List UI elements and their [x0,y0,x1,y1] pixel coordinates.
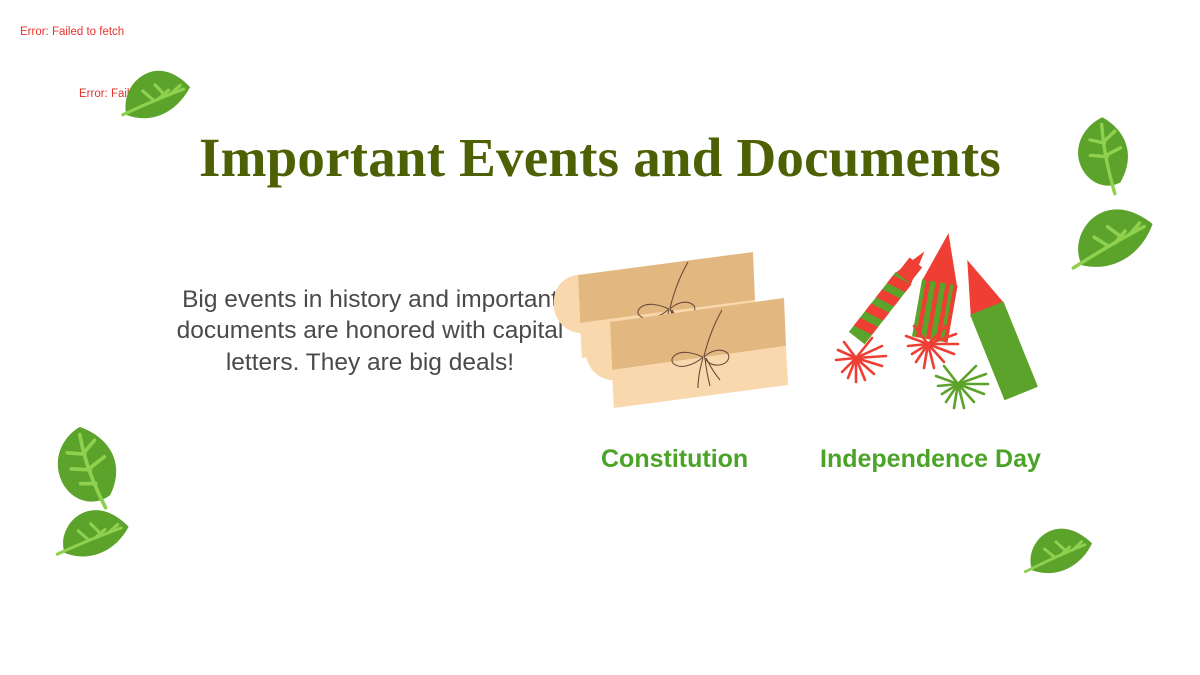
leaf-bottom-right [1010,518,1106,590]
leaf-top-right-upper [1062,112,1150,198]
scroll-icon [548,240,808,430]
leaf-top-right-lower [1060,196,1160,286]
spark-burst-left [836,338,886,382]
leaf-top-left [108,57,200,137]
slide-canvas: Error: Failed to fetch Error: Failed to … [0,0,1200,675]
caption-constitution: Constitution [601,447,748,472]
scroll-illustration [548,240,808,430]
caption-independence-day: Independence Day [820,447,1041,472]
error-message-1: Error: Failed to fetch [20,27,124,39]
leaf-bottom-left-lower [40,498,142,574]
fireworks-icon [808,226,1044,426]
fireworks-illustration [808,226,1044,426]
rocket-middle [906,230,966,368]
spark-burst-right [936,366,988,408]
body-paragraph: Big events in history and important docu… [170,284,570,378]
